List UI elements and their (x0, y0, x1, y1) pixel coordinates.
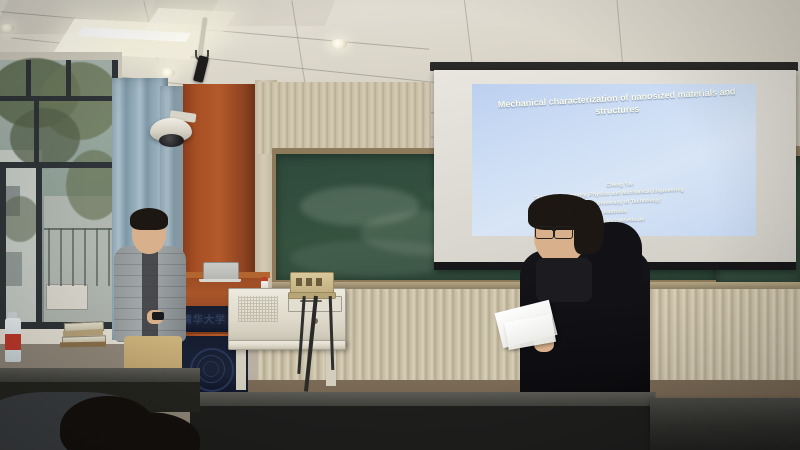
desk-right (650, 398, 800, 450)
bottle-label (5, 334, 21, 350)
lecture-room-photo: Mechanical characterization of nanosized… (0, 0, 800, 450)
downlight-icon (160, 68, 175, 77)
camera-dome-lens-icon (159, 134, 184, 147)
cabinet-speaker-grill (238, 296, 278, 322)
person-right-collar (536, 258, 592, 302)
person-left-held-object (152, 312, 164, 320)
downlight-icon (330, 39, 347, 49)
person-left-hair (130, 208, 168, 230)
person-right-glasses (535, 226, 554, 239)
air-conditioner-unit (46, 284, 88, 310)
wood-slat-band (256, 82, 431, 154)
banner-text: 清华大学 (182, 311, 226, 326)
downlight-icon (0, 24, 14, 32)
